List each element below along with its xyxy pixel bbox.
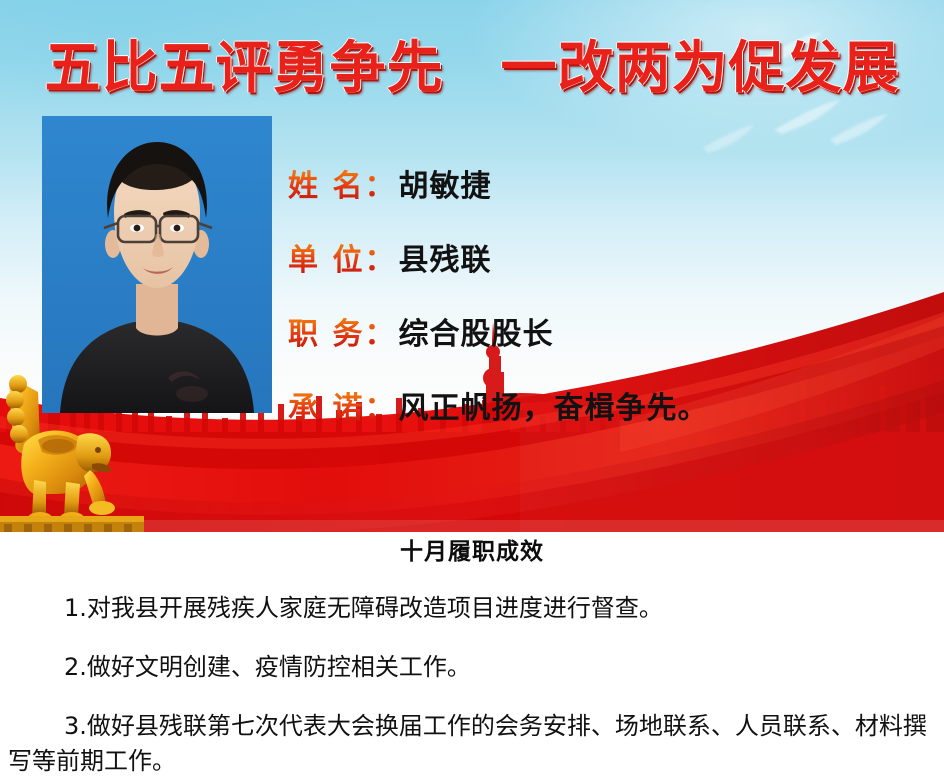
info-fields: 姓 名： 胡敏捷 单 位： 县残联 职 务： 综合股股长 承 诺： 风正帆扬，奋… bbox=[288, 146, 708, 442]
dove-icon bbox=[826, 110, 892, 160]
field-name: 姓 名： 胡敏捷 bbox=[288, 146, 708, 220]
report-item: 2.做好文明创建、疫情防控相关工作。 bbox=[8, 650, 938, 685]
field-label-name: 姓 名： bbox=[288, 161, 398, 205]
banner-graphic: 五比五评勇争先 一改两为促发展 bbox=[0, 0, 944, 532]
portrait-photo bbox=[42, 116, 272, 413]
poster-title: 五比五评勇争先 一改两为促发展 bbox=[0, 38, 944, 100]
field-value-pledge: 风正帆扬，奋楫争先。 bbox=[398, 383, 708, 427]
field-label-unit: 单 位： bbox=[288, 235, 398, 279]
report-section: 十月履职成效 1.对我县开展残疾人家庭无障碍改造项目进度进行督查。 2.做好文明… bbox=[0, 532, 944, 782]
field-position: 职 务： 综合股股长 bbox=[288, 294, 708, 368]
report-items: 1.对我县开展残疾人家庭无障碍改造项目进度进行督查。 2.做好文明创建、疫情防控… bbox=[0, 591, 944, 782]
field-pledge: 承 诺： 风正帆扬，奋楫争先。 bbox=[288, 368, 708, 442]
field-label-position: 职 务： bbox=[288, 309, 398, 353]
field-unit: 单 位： 县残联 bbox=[288, 220, 708, 294]
report-item: 1.对我县开展残疾人家庭无障碍改造项目进度进行督查。 bbox=[8, 591, 938, 626]
report-item: 3.做好县残联第七次代表大会换届工作的会务安排、场地联系、人员联系、材料撰写等前… bbox=[8, 709, 938, 779]
field-value-position: 综合股股长 bbox=[398, 309, 553, 353]
field-value-name: 胡敏捷 bbox=[398, 161, 491, 205]
dove-icon bbox=[700, 122, 758, 166]
field-value-unit: 县残联 bbox=[398, 235, 491, 279]
poster-root: 五比五评勇争先 一改两为促发展 bbox=[0, 0, 944, 782]
field-label-pledge: 承 诺： bbox=[288, 383, 398, 427]
dove-icon bbox=[770, 96, 844, 150]
report-heading: 十月履职成效 bbox=[0, 537, 944, 567]
